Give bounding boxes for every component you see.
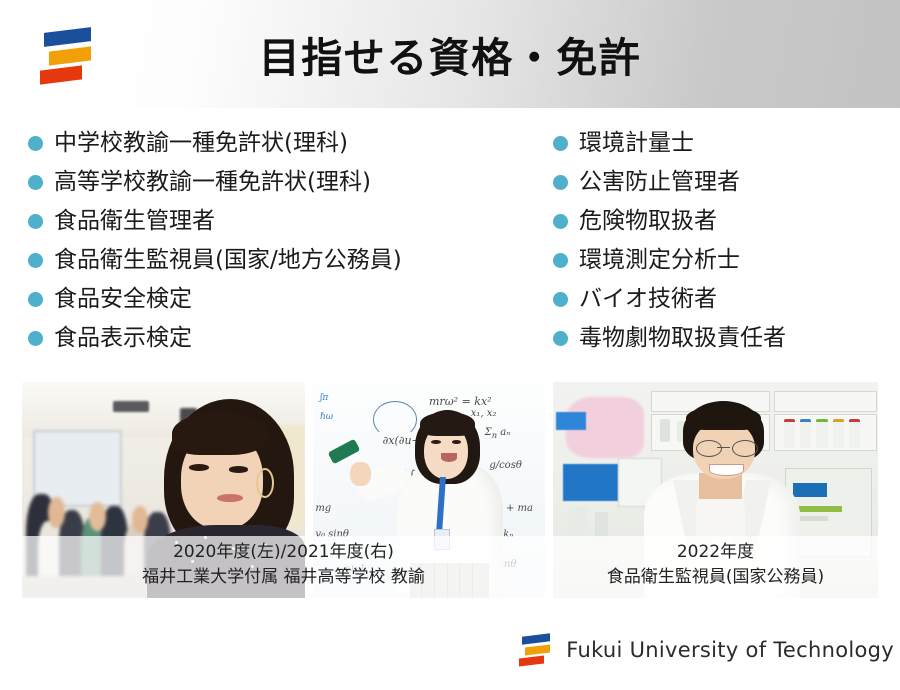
list-item-label: バイオ技術者	[579, 284, 717, 315]
list-item: 食品表示検定	[28, 323, 518, 356]
bullet-icon	[553, 331, 568, 346]
list-item: 食品衛生管理者	[28, 206, 518, 239]
caption-line-2: 食品衛生監視員(国家公務員)	[553, 565, 878, 590]
list-item-label: 食品安全検定	[54, 284, 192, 315]
bullet-icon	[553, 292, 568, 307]
logo-bar-blue	[522, 633, 550, 644]
logo-bar-orange	[525, 644, 550, 655]
list-item-label: 危険物取扱者	[579, 206, 717, 237]
bullet-icon	[553, 214, 568, 229]
logo-bar-red	[519, 655, 544, 666]
list-item: 食品安全検定	[28, 284, 518, 317]
list-item: 危険物取扱者	[553, 206, 900, 239]
page-title: 目指せる資格・免許	[0, 24, 900, 84]
slide-footer: Fukui University of Technology	[0, 612, 900, 690]
bullet-icon	[28, 214, 43, 229]
footer-brand: Fukui University of Technology	[518, 632, 894, 668]
university-name: Fukui University of Technology	[566, 638, 894, 662]
list-item-label: 毒物劇物取扱責任者	[579, 323, 786, 354]
photo-lab-student: 2022年度 食品衛生監視員(国家公務員)	[553, 382, 878, 598]
list-item: 環境測定分析士	[553, 245, 900, 278]
caption-line-2: 福井工業大学付属 福井高等学校 教諭	[22, 565, 545, 590]
photo-caption: 2022年度 食品衛生監視員(国家公務員)	[553, 536, 878, 598]
qualification-list-left: 中学校教諭一種免許状(理科) 高等学校教諭一種免許状(理科) 食品衛生管理者 食…	[28, 128, 518, 362]
bullet-icon	[28, 253, 43, 268]
list-item-label: 公害防止管理者	[579, 167, 740, 198]
list-item-label: 食品衛生監視員(国家/地方公務員)	[54, 245, 402, 276]
fukui-logo-icon	[518, 632, 552, 668]
list-item: 毒物劇物取扱責任者	[553, 323, 900, 356]
list-item: 環境計量士	[553, 128, 900, 161]
list-item: バイオ技術者	[553, 284, 900, 317]
bullet-icon	[553, 136, 568, 151]
list-item-label: 中学校教諭一種免許状(理科)	[54, 128, 348, 159]
bullet-icon	[553, 175, 568, 190]
list-item: 高等学校教諭一種免許状(理科)	[28, 167, 518, 200]
qualification-list-right: 環境計量士 公害防止管理者 危険物取扱者 環境測定分析士 バイオ技術者 毒物劇物…	[553, 128, 900, 362]
list-item-label: 食品衛生管理者	[54, 206, 215, 237]
list-item-label: 高等学校教諭一種免許状(理科)	[54, 167, 371, 198]
caption-line-1: 2020年度(左)/2021年度(右)	[22, 540, 545, 565]
list-item-label: 環境測定分析士	[579, 245, 740, 276]
bullet-icon	[28, 331, 43, 346]
bullet-icon	[28, 292, 43, 307]
bullet-icon	[28, 175, 43, 190]
qualification-lists: 中学校教諭一種免許状(理科) 高等学校教諭一種免許状(理科) 食品衛生管理者 食…	[0, 128, 900, 368]
bullet-icon	[28, 136, 43, 151]
list-item: 公害防止管理者	[553, 167, 900, 200]
list-item: 中学校教諭一種免許状(理科)	[28, 128, 518, 161]
bullet-icon	[553, 253, 568, 268]
slide-header: 目指せる資格・免許	[0, 0, 900, 108]
list-item-label: 環境計量士	[579, 128, 694, 159]
photo-strip: ʃπ ℏω mrω² = kx² ∂x(∂u−e) Σn aₙ g/cosθ x…	[0, 382, 900, 598]
caption-line-1: 2022年度	[553, 540, 878, 565]
slide: 目指せる資格・免許 中学校教諭一種免許状(理科) 高等学校教諭一種免許状(理科)…	[0, 0, 900, 690]
photo-caption-pair: 2020年度(左)/2021年度(右) 福井工業大学付属 福井高等学校 教諭	[22, 536, 545, 598]
list-item-label: 食品表示検定	[54, 323, 192, 354]
list-item: 食品衛生監視員(国家/地方公務員)	[28, 245, 518, 278]
